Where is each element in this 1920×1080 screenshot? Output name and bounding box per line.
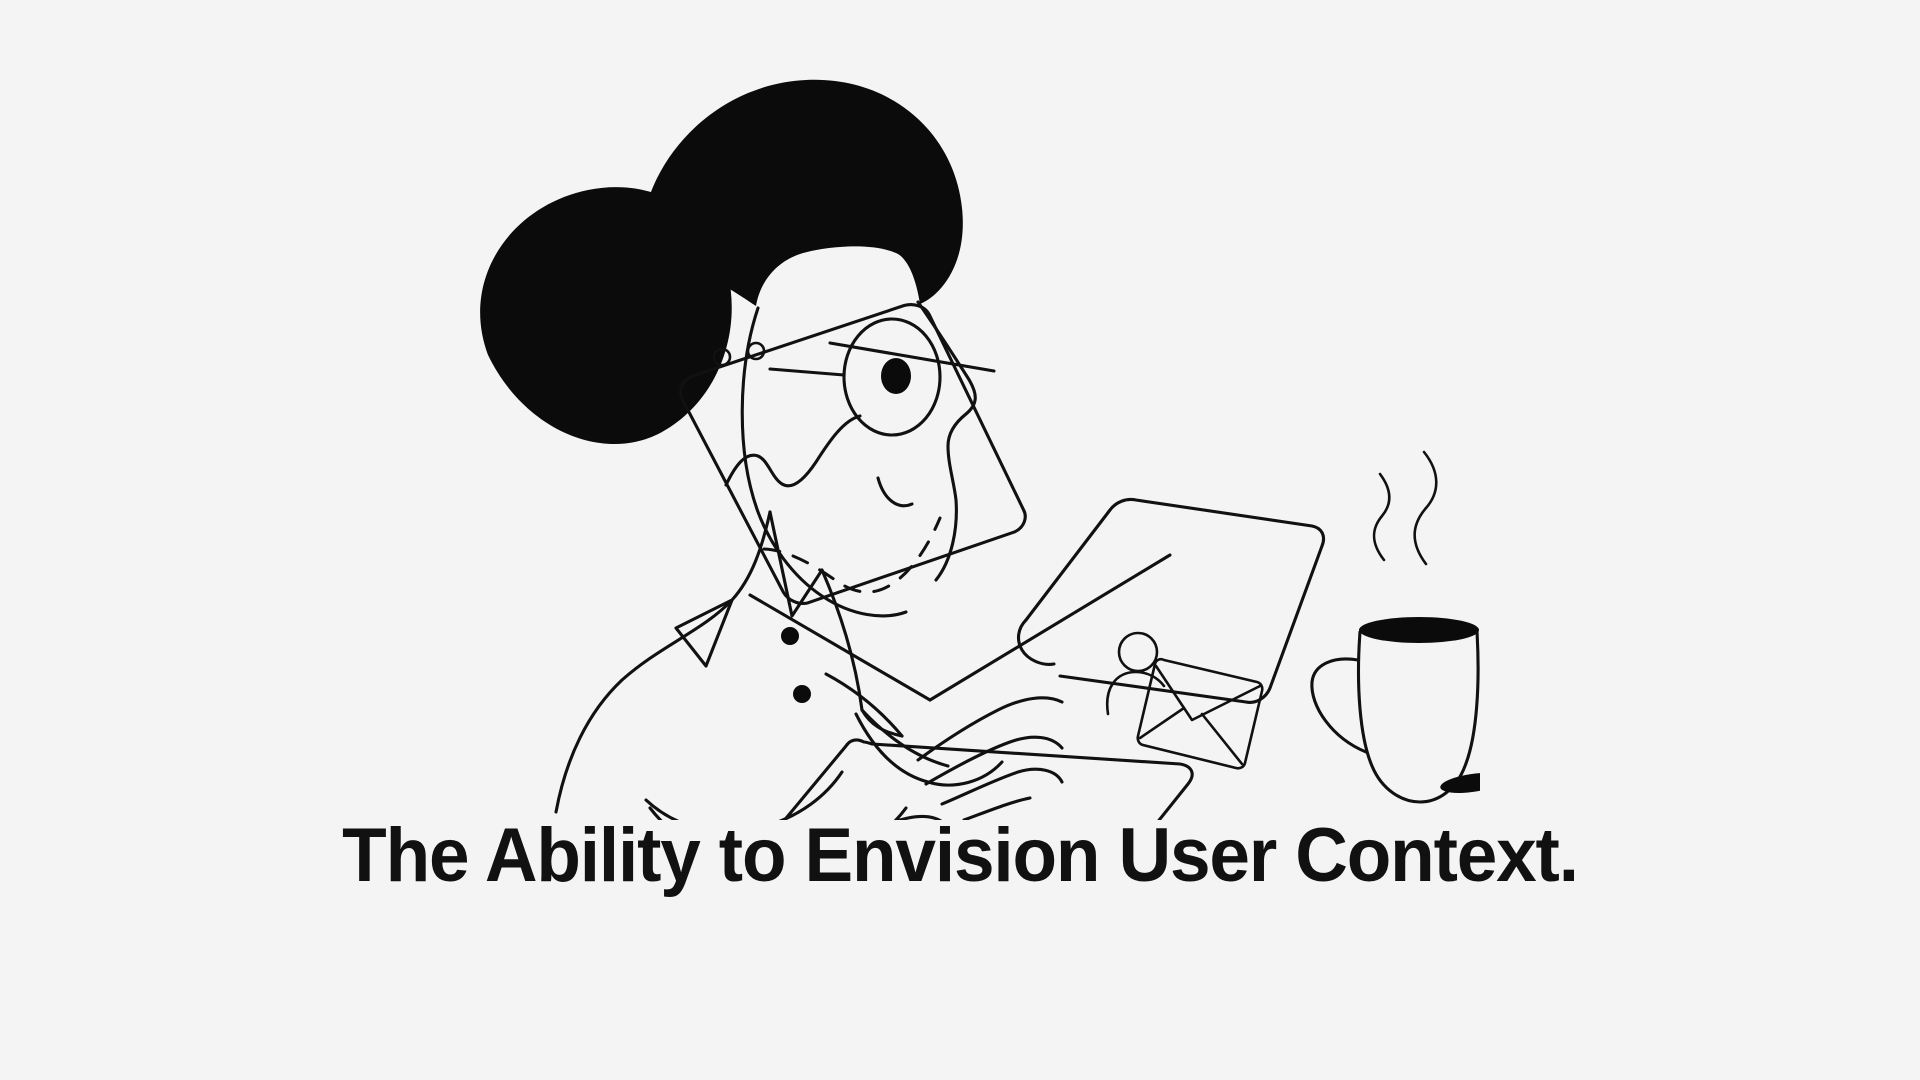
- chart-solid-line: [726, 416, 860, 486]
- smile: [878, 478, 912, 506]
- person-at-laptop-illustration: [470, 60, 1480, 820]
- pointing-hand: [856, 698, 1062, 820]
- mail-avatar-head-icon: [1119, 633, 1157, 671]
- coffee-surface: [1359, 617, 1479, 643]
- shirt-collar: [556, 512, 862, 820]
- page-title: The Ability to Envision User Context.: [38, 818, 1881, 894]
- browser-address-line: [830, 343, 994, 371]
- chart-dashed-line: [764, 518, 940, 592]
- mail-avatar-body-icon: [1107, 672, 1164, 714]
- shirt-buttons: [781, 627, 811, 703]
- page-canvas: The Ability to Envision User Context.: [0, 0, 1920, 1080]
- laptop-lid: [1019, 499, 1324, 702]
- eye-pupil: [881, 358, 911, 394]
- desk-edges: [750, 555, 1170, 700]
- coffee-mug: [1312, 617, 1479, 802]
- steam-curls: [1374, 452, 1436, 564]
